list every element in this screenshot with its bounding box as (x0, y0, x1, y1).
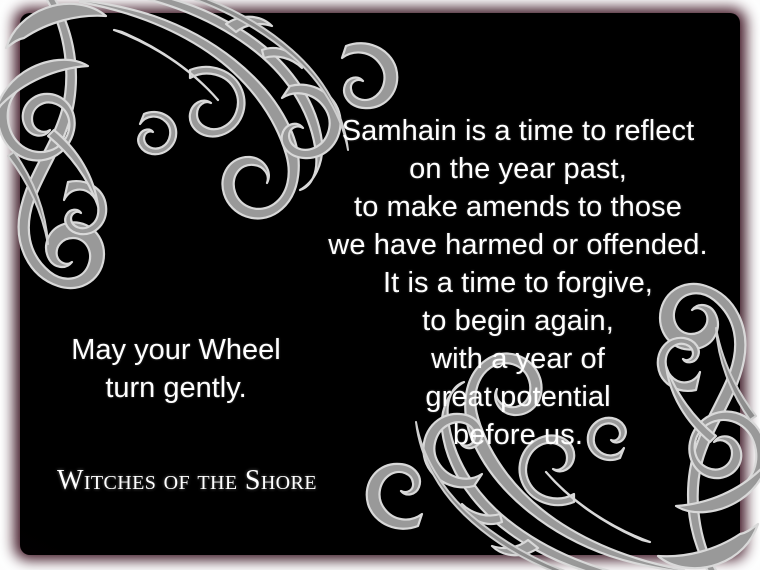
text-layer: Samhain is a time to reflect on the year… (0, 0, 760, 570)
blessing-text: May your Wheel turn gently. (36, 331, 316, 407)
signature-text: Witches of the Shore (57, 464, 317, 498)
main-quote-text: Samhain is a time to reflect on the year… (296, 112, 740, 454)
quote-card: Samhain is a time to reflect on the year… (0, 0, 760, 570)
